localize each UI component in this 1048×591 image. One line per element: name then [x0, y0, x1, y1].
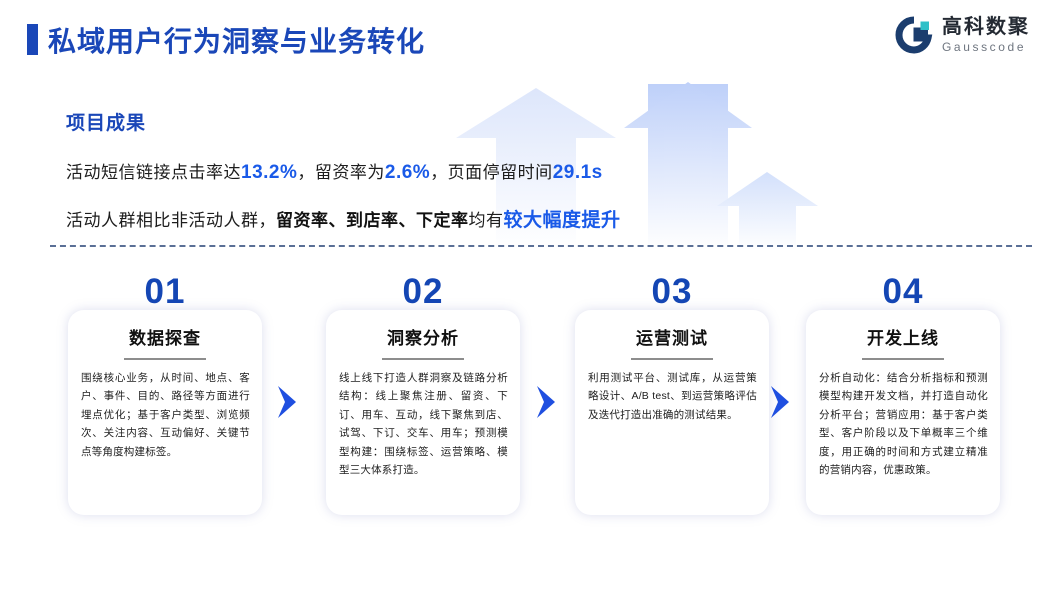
step-card-body-01[interactable]: 数据探查 围绕核心业务，从时间、地点、客户、事件、目的、路径等方面进行埋点优化；…	[68, 310, 262, 515]
chevron-1-2-icon	[275, 384, 301, 420]
gausscode-logo-icon	[895, 16, 933, 54]
results-heading: 项目成果	[66, 108, 621, 135]
step-card-body-03[interactable]: 运营测试 利用测试平台、测试库，从运营策略设计、A/B test、到运营策略评估…	[575, 310, 769, 515]
brand-logo: 高科数聚 Gausscode	[895, 16, 1030, 54]
step-card-body-04[interactable]: 开发上线 分析自动化：结合分析指标和预测模型构建开发文档，并打造自动化分析平台；…	[806, 310, 1000, 515]
section-divider	[50, 245, 1032, 247]
metric-lead-rate: 2.6%	[385, 162, 430, 183]
process-steps: 01 数据探查 围绕核心业务，从时间、地点、客户、事件、目的、路径等方面进行埋点…	[0, 272, 1048, 522]
step-number-03: 03	[575, 272, 769, 312]
decor-arrow-center-tip	[624, 82, 752, 250]
page-header: 私域用户行为洞察与业务转化 高科数聚 Gausscode	[0, 0, 1048, 78]
step-desc-02: 线上线下打造人群洞察及链路分析结构：线上聚焦注册、留资、下订、用车、互动，线下聚…	[326, 360, 520, 479]
page-title: 私域用户行为洞察与业务转化	[48, 20, 425, 60]
metric-dwell-time: 29.1s	[553, 162, 603, 183]
logo-name-cn: 高科数聚	[942, 17, 1030, 37]
results-l1-seg1: 活动短信链接点击率达	[66, 163, 241, 182]
decor-arrow-center	[648, 84, 728, 250]
step-title-01: 数据探查	[68, 324, 262, 349]
step-number-04: 04	[806, 272, 1000, 312]
step-desc-01: 围绕核心业务，从时间、地点、客户、事件、目的、路径等方面进行埋点优化；基于客户类…	[68, 360, 262, 461]
step-desc-03: 利用测试平台、测试库，从运营策略设计、A/B test、到运营策略评估及迭代打造…	[575, 360, 769, 424]
title-accent-bar	[27, 24, 38, 55]
results-line-2: 活动人群相比非活动人群，留资率、到店率、下定率均有较大幅度提升	[66, 205, 621, 232]
step-title-02: 洞察分析	[326, 324, 520, 349]
step-title-03: 运营测试	[575, 324, 769, 349]
step-card-body-02[interactable]: 洞察分析 线上线下打造人群洞察及链路分析结构：线上聚焦注册、留资、下订、用车、互…	[326, 310, 520, 515]
chevron-2-3-icon	[534, 384, 560, 420]
results-l2-highlight: 较大幅度提升	[504, 210, 621, 231]
step-desc-04: 分析自动化：结合分析指标和预测模型构建开发文档，并打造自动化分析平台；营销应用：…	[806, 360, 1000, 479]
logo-name-en: Gausscode	[942, 41, 1030, 53]
decor-arrow-right	[717, 172, 818, 250]
step-title-04: 开发上线	[806, 324, 1000, 349]
results-line-1: 活动短信链接点击率达13.2%，留资率为2.6%，页面停留时间29.1s	[66, 158, 621, 184]
results-l2-seg1: 活动人群相比非活动人群，	[66, 211, 276, 230]
results-l2-bold: 留资率、到店率、下定率	[276, 211, 469, 230]
metric-ctr: 13.2%	[241, 162, 297, 183]
results-l2-seg2: 均有	[469, 211, 504, 230]
results-l1-seg2: ，留资率为	[297, 163, 385, 182]
project-results-block: 项目成果 活动短信链接点击率达13.2%，留资率为2.6%，页面停留时间29.1…	[66, 108, 621, 232]
step-number-02: 02	[326, 272, 520, 312]
results-l1-seg3: ，页面停留时间	[430, 163, 553, 182]
step-number-01: 01	[68, 272, 262, 312]
chevron-3-4-icon	[768, 384, 794, 420]
